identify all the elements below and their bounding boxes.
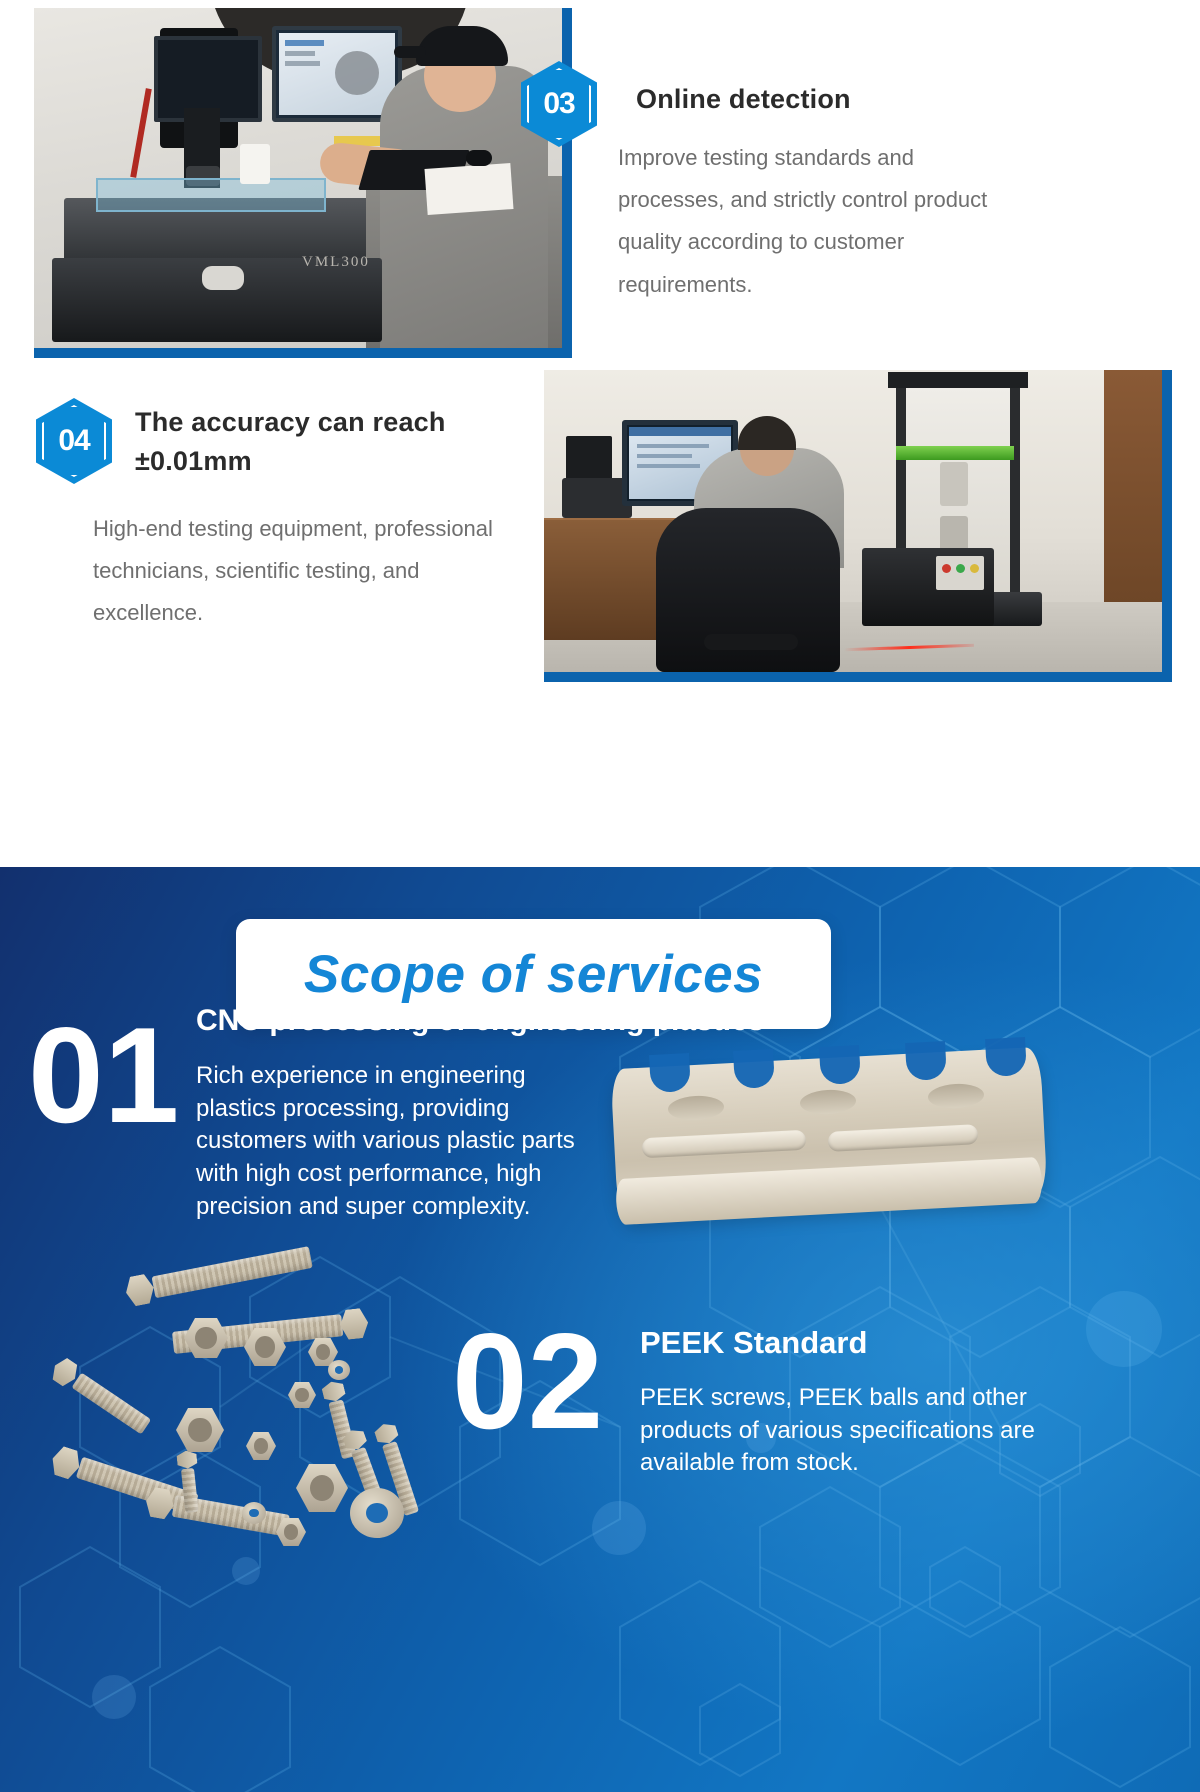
tensile-testing-photo	[544, 370, 1172, 682]
service-body-01: Rich experience in engineering plastics …	[196, 1060, 598, 1223]
service-title-02: PEEK Standard	[640, 1325, 1060, 1361]
feature-title-04: The accuracy can reach ±0.01mm	[135, 403, 535, 481]
features-section: VML300 03 Online detection Improve testi…	[0, 0, 1200, 867]
service-number-01: 01	[28, 1020, 179, 1132]
online-detection-photo: VML300	[34, 8, 572, 358]
service-body-02: PEEK screws, PEEK balls and other produc…	[640, 1382, 1040, 1480]
banner-title: Scope of services	[304, 944, 763, 1005]
machine-model-label: VML300	[302, 254, 370, 271]
glow-dot	[92, 1675, 136, 1719]
glow-dot	[1086, 1291, 1162, 1367]
feature-number-03: 03	[521, 61, 597, 147]
feature-number-04: 04	[36, 398, 112, 484]
feature-badge-04: 04	[36, 398, 112, 484]
peek-machined-plate-photo	[614, 1030, 1044, 1265]
glow-dot	[592, 1501, 646, 1555]
feature-body-04: High-end testing equipment, professional…	[93, 508, 513, 635]
feature-title-03: Online detection	[636, 80, 1056, 119]
feature-body-03: Improve testing standards and processes,…	[618, 137, 996, 306]
feature-badge-03: 03	[521, 61, 597, 147]
promo-page: VML300 03 Online detection Improve testi…	[0, 0, 1200, 1792]
peek-fasteners-photo	[52, 1272, 482, 1562]
